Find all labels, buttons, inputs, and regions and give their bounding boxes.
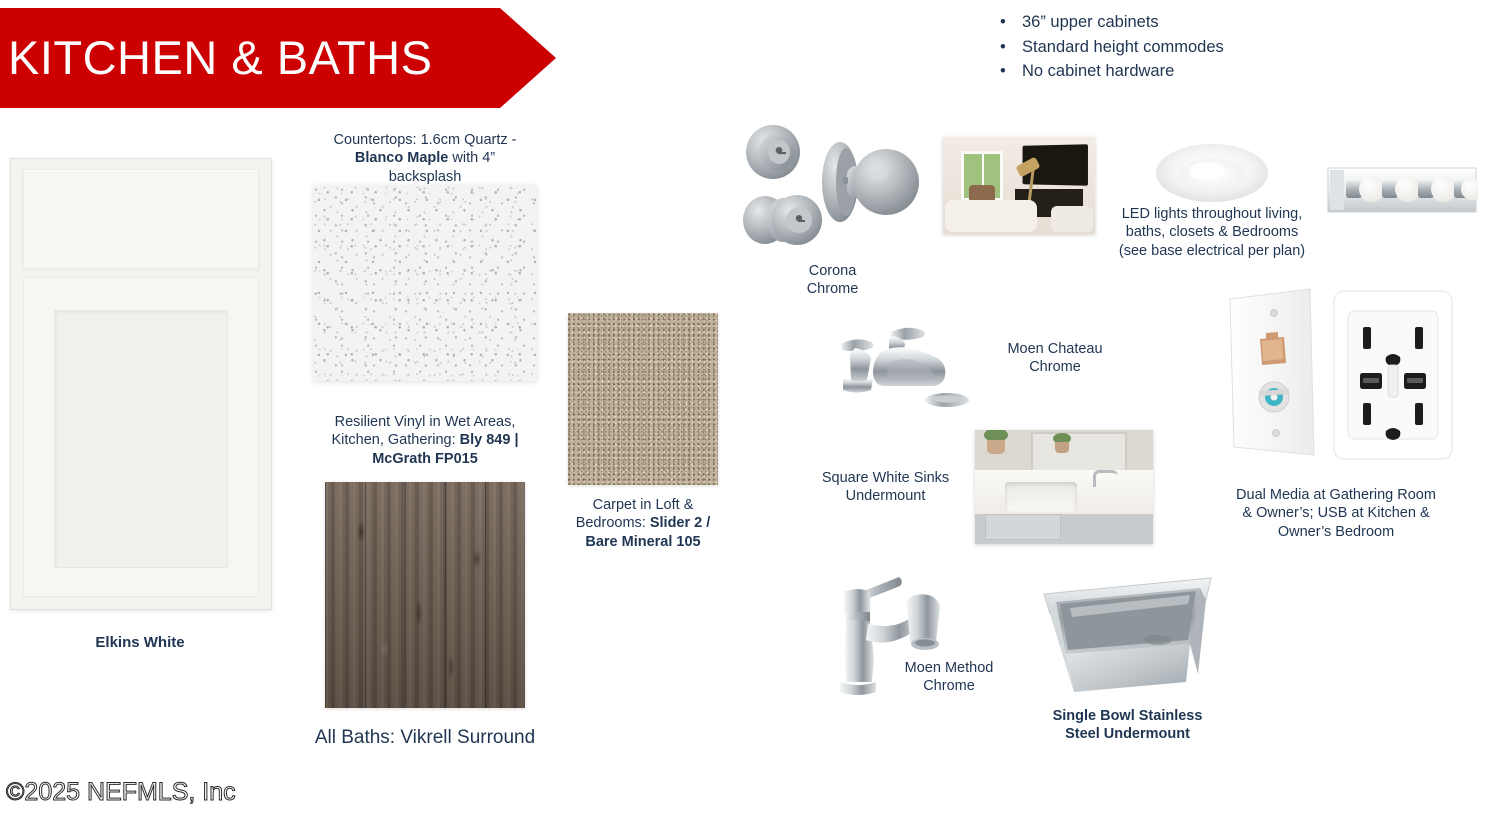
single-bowl-undermount-sink-icon xyxy=(1040,570,1215,700)
carpet-swatch xyxy=(568,313,718,485)
bath-faucet-finish: Chrome xyxy=(1029,359,1081,375)
carpet-product-code: Bare Mineral 105 xyxy=(585,534,700,550)
door-knob-finish: Chrome xyxy=(807,281,859,297)
flush-mount-led-light xyxy=(1155,140,1270,205)
list-item: Standard height commodes xyxy=(1022,37,1420,58)
cabinet-door-swatch xyxy=(10,158,272,610)
cabinet-door-front xyxy=(23,277,259,597)
sinks-caption-line2: Undermount xyxy=(846,488,926,504)
door-hardware-group xyxy=(735,120,925,265)
vinyl-plank-knots xyxy=(325,482,525,708)
door-knob-name: Corona xyxy=(809,263,857,279)
vinyl-caption-line2-lead: Kitchen, Gathering: xyxy=(331,432,459,448)
centerset-faucet-icon xyxy=(835,318,985,410)
quartz-speckle-texture xyxy=(313,185,537,381)
lr-sofa xyxy=(945,200,1037,232)
spec-bullet-list: 36” upper cabinets Standard height commo… xyxy=(1000,12,1420,86)
door-knob-caption: Corona Chrome xyxy=(770,262,895,299)
kitchen-faucet-name: Moen Method xyxy=(905,660,994,676)
carpet-caption: Carpet in Loft & Bedrooms: Slider 2 / Ba… xyxy=(568,496,718,551)
kitchen-faucet-caption: Moen Method Chrome xyxy=(890,659,1008,696)
bath-faucet-caption: Moen Chateau Chrome xyxy=(990,340,1120,377)
led-caption-line2: baths, closets & Bedrooms xyxy=(1126,224,1298,240)
vinyl-plank-swatch xyxy=(325,482,525,708)
door-knob-illustration xyxy=(735,120,925,265)
cabinet-drawer-front xyxy=(23,169,259,269)
copyright-watermark: ©2025 NEFMLS, Inc xyxy=(6,778,236,806)
list-item: 36” upper cabinets xyxy=(1022,12,1420,33)
led-caption-line1: LED lights throughout living, xyxy=(1122,206,1303,222)
bath-plant-pot-right xyxy=(1055,442,1069,453)
bath-faucet-name: Moen Chateau xyxy=(1007,341,1102,357)
carpet-caption-line1: Carpet in Loft & xyxy=(593,497,694,513)
page-title: KITCHEN & BATHS xyxy=(8,30,478,86)
bath-mirror xyxy=(1031,432,1127,474)
cabinet-label: Elkins White xyxy=(10,633,270,652)
bath-photo-faucet xyxy=(1093,470,1118,487)
carpet-fiber-texture xyxy=(568,313,718,485)
led-caption-line3: (see base electrical per plan) xyxy=(1119,243,1305,259)
lr-sofa-right xyxy=(1051,206,1093,232)
vanity-light-bar xyxy=(1326,164,1478,216)
countertop-caption-line3: backsplash xyxy=(389,169,462,185)
media-caption-line2: & Owner’s; USB at Kitchen & xyxy=(1242,505,1429,521)
media-caption: Dual Media at Gathering Room & Owner’s; … xyxy=(1226,486,1446,541)
banner-arrow-tip-icon xyxy=(500,8,556,108)
list-item: No cabinet hardware xyxy=(1022,61,1420,82)
countertop-product-name: Blanco Maple xyxy=(355,150,448,166)
kitchen-sink-illustration xyxy=(1040,570,1215,700)
kitchen-faucet-finish: Chrome xyxy=(923,678,975,694)
kitchen-sink-line2: Steel Undermount xyxy=(1065,726,1190,742)
bath-undermount-sink xyxy=(1005,482,1077,512)
led-caption: LED lights throughout living, baths, clo… xyxy=(1112,205,1312,260)
kitchen-sink-line1: Single Bowl Stainless xyxy=(1053,708,1203,724)
vinyl-product-code-1: Bly 849 | xyxy=(460,432,519,448)
cabinet-door-recessed-panel xyxy=(54,310,228,568)
countertop-caption-line1: Countertops: 1.6cm Quartz - xyxy=(334,132,517,148)
header-banner: KITCHEN & BATHS xyxy=(0,8,556,108)
countertop-caption-line2-tail: with 4” xyxy=(448,150,495,166)
carpet-product-name: Slider 2 / xyxy=(650,515,710,531)
sinks-caption-line1: Square White Sinks xyxy=(822,470,949,486)
flush-mount-light-icon xyxy=(1155,140,1270,205)
vinyl-product-code-2: McGrath FP015 xyxy=(372,451,478,467)
bath-plant-pot-left xyxy=(987,440,1005,454)
bath-vanity-cabinet xyxy=(975,514,1153,544)
quartz-swatch xyxy=(313,185,537,381)
carpet-caption-line2-lead: Bedrooms: xyxy=(576,515,650,531)
vinyl-caption: Resilient Vinyl in Wet Areas, Kitchen, G… xyxy=(318,413,532,468)
bath-vanity-photo xyxy=(975,430,1153,544)
vanity-bar-light-icon xyxy=(1326,164,1478,216)
sinks-caption: Square White Sinks Undermount xyxy=(818,469,953,506)
media-caption-line3: Owner’s Bedroom xyxy=(1278,524,1394,540)
kitchen-sink-caption: Single Bowl Stainless Steel Undermount xyxy=(1050,707,1205,744)
kitchen-baths-selection-board: KITCHEN & BATHS 36” upper cabinets Stand… xyxy=(0,0,1492,833)
vinyl-caption-line1: Resilient Vinyl in Wet Areas, xyxy=(335,414,516,430)
electrical-devices-group xyxy=(1226,287,1466,467)
media-and-usb-outlet-icon xyxy=(1226,287,1466,467)
media-caption-line1: Dual Media at Gathering Room xyxy=(1236,487,1436,503)
living-room-photo xyxy=(943,137,1095,234)
countertop-caption: Countertops: 1.6cm Quartz - Blanco Maple… xyxy=(320,131,530,186)
vikrell-label: All Baths: Vikrell Surround xyxy=(295,726,555,750)
bath-vanity-drawer xyxy=(985,514,1061,540)
bath-faucet-illustration xyxy=(835,318,985,410)
